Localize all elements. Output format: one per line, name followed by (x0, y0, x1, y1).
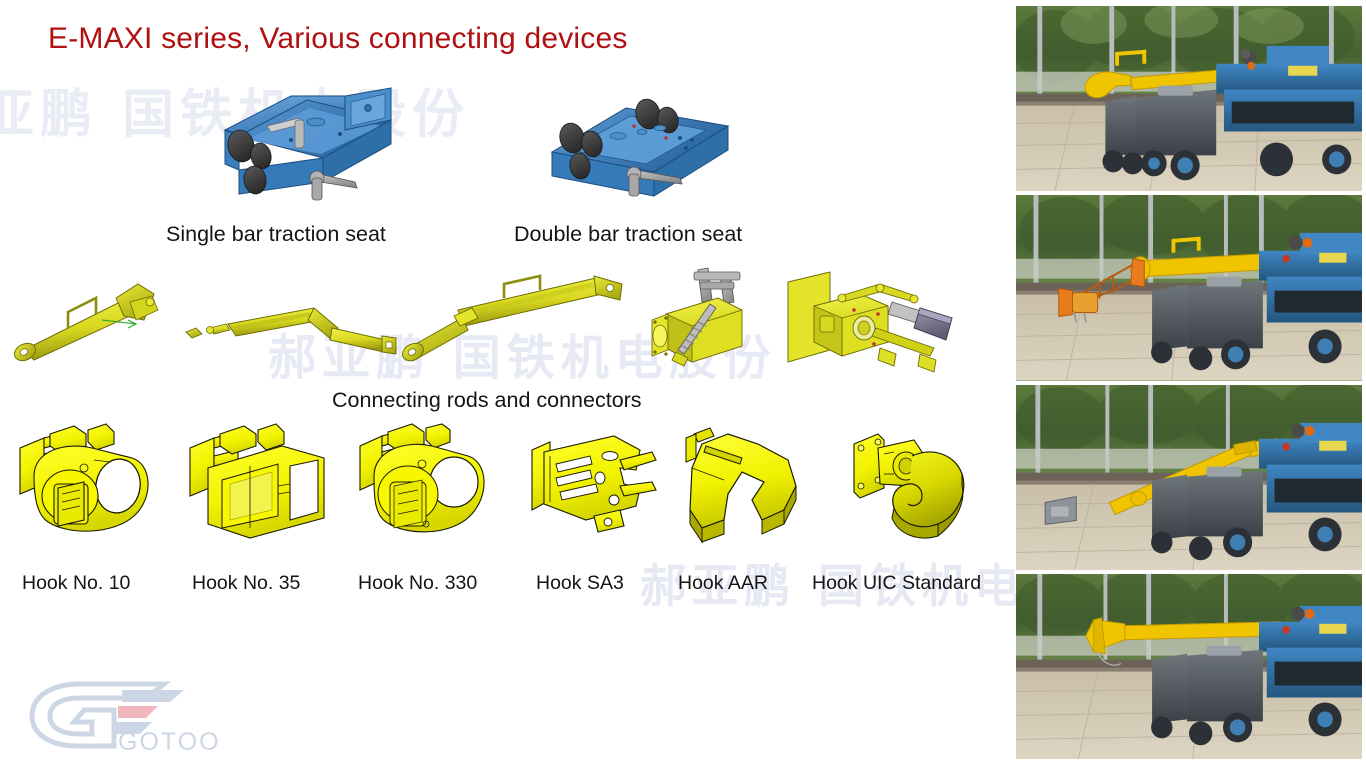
hook-sa3-icon (528, 434, 658, 544)
hook-no-10-icon (14, 424, 159, 554)
photo-hook-uic-attached (1016, 6, 1362, 191)
caption-hook-aar: Hook AAR (678, 572, 768, 595)
photo-orange-adapter (1016, 195, 1362, 380)
caption-hook-no-35: Hook No. 35 (192, 572, 300, 595)
connector-head-gray-icon (648, 266, 768, 376)
connecting-rod-straight-icon (12, 280, 192, 360)
photo-fork-connector (1016, 574, 1362, 759)
caption-double-bar-traction-seat: Double bar traction seat (514, 222, 742, 247)
caption-connecting-rods-and-connectors: Connecting rods and connectors (332, 388, 642, 413)
connecting-rod-telescopic-icon (400, 272, 630, 367)
connector-assembly-actuator-icon (784, 266, 964, 376)
caption-hook-no-330: Hook No. 330 (358, 572, 477, 595)
caption-single-bar-traction-seat: Single bar traction seat (166, 222, 386, 247)
photo-lowered-connector (1016, 385, 1362, 570)
hook-no-330-icon (356, 424, 501, 554)
hook-no-35-icon (186, 424, 331, 554)
company-logo: GOTOO (18, 672, 248, 758)
caption-hook-uic-standard: Hook UIC Standard (812, 572, 981, 595)
traction-seat-single-icon (195, 78, 410, 213)
photo-strip (1010, 0, 1366, 765)
hook-aar-icon (676, 424, 811, 549)
connecting-rod-bent-icon (186, 300, 396, 362)
hook-uic-standard-icon (850, 430, 975, 545)
page-title: E-MAXI series, Various connecting device… (48, 22, 628, 56)
slide-canvas: 亚鹏 国铁机电股份 郝亚鹏 国铁机电股份 郝亚鹏 国铁机电 E-MAXI ser… (0, 0, 1366, 765)
caption-hook-sa3: Hook SA3 (536, 572, 624, 595)
logo-wordmark: GOTOO (118, 728, 221, 756)
caption-hook-no-10: Hook No. 10 (22, 572, 130, 595)
traction-seat-double-icon (530, 92, 735, 202)
